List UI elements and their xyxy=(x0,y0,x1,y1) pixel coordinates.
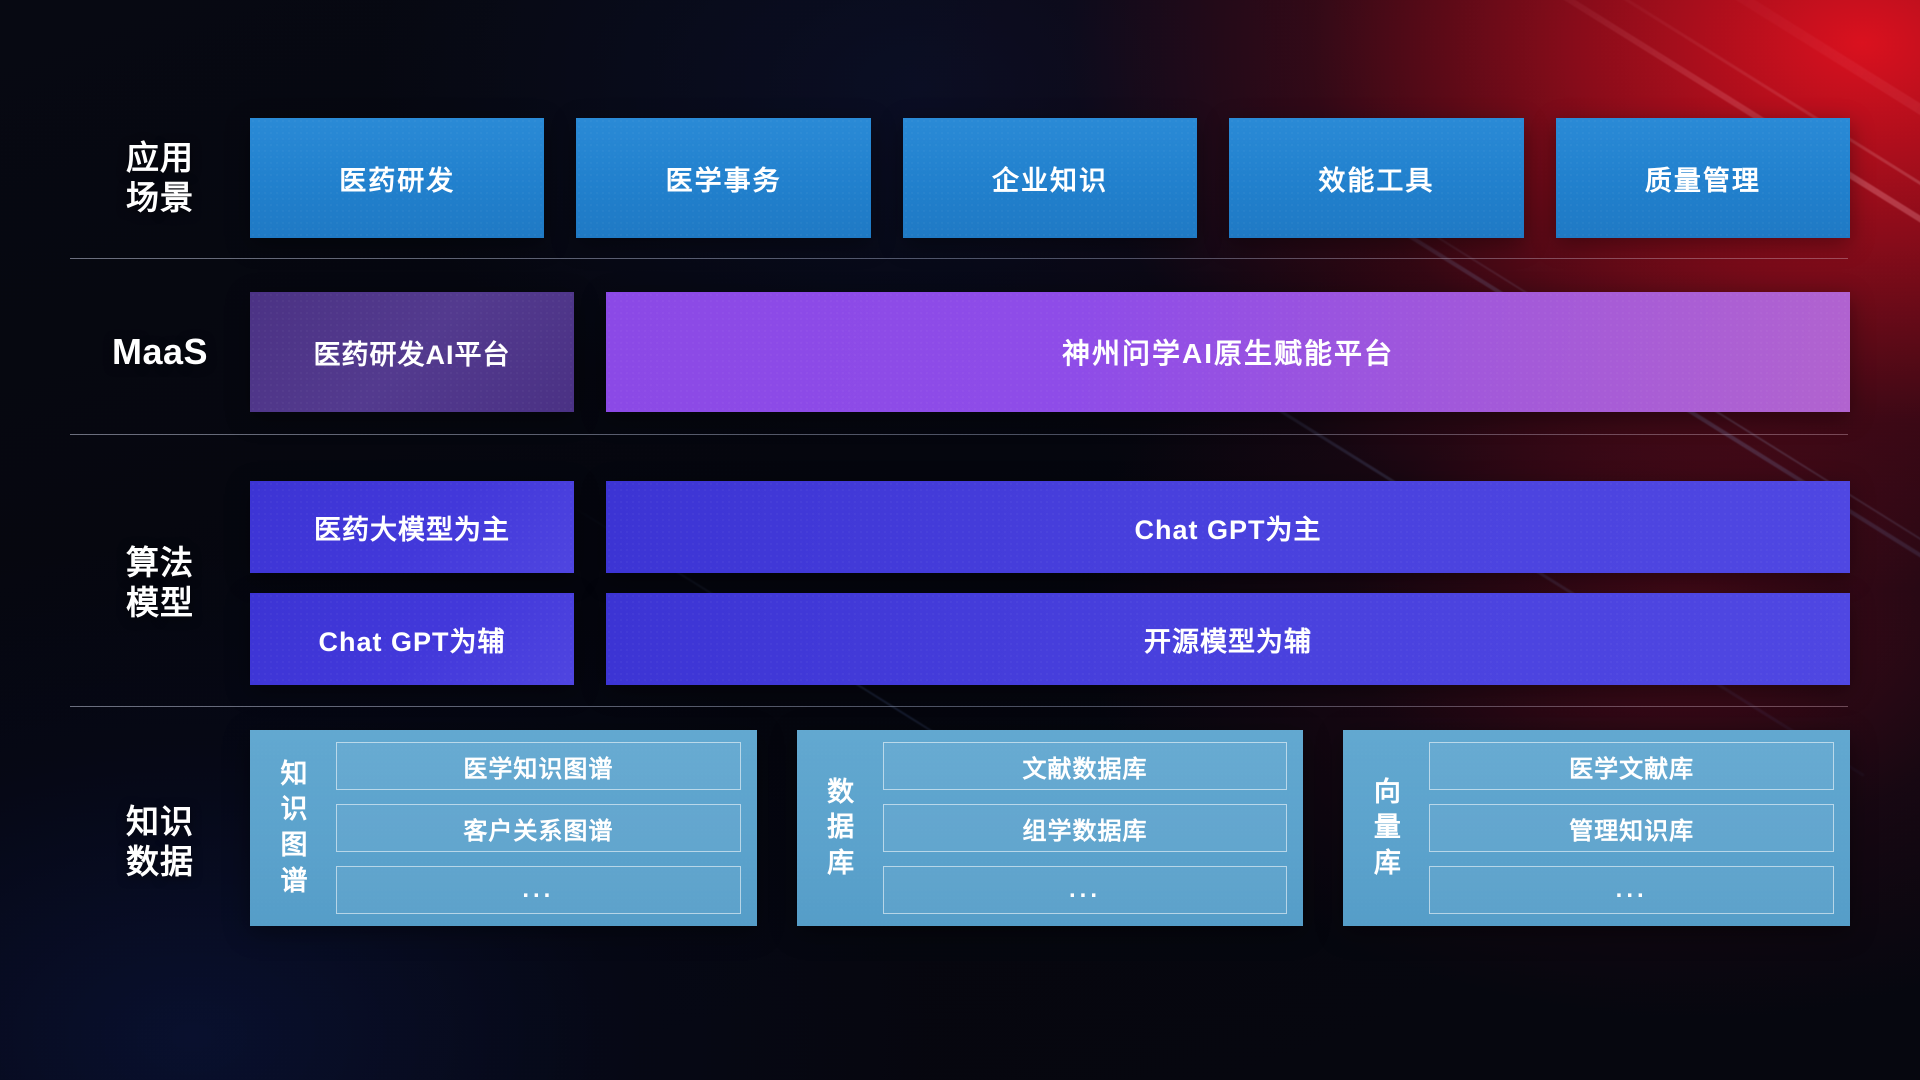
knowledge-item-more[interactable]: ... xyxy=(883,866,1288,914)
algo-card-pharma-llm-primary[interactable]: 医药大模型为主 xyxy=(250,481,574,573)
algo-card-chatgpt-primary[interactable]: Chat GPT为主 xyxy=(606,481,1850,573)
knowledge-item[interactable]: 医学知识图谱 xyxy=(336,742,741,790)
knowledge-group-list: 知识图谱 医学知识图谱 客户关系图谱 ... 数据库 文献数据库 xyxy=(250,730,1850,926)
knowledge-group-knowledge-graph[interactable]: 知识图谱 医学知识图谱 客户关系图谱 ... xyxy=(250,730,757,926)
app-card-quality-management[interactable]: 质量管理 xyxy=(1556,118,1850,238)
app-card-label: 医学事务 xyxy=(666,159,782,198)
knowledge-item[interactable]: 组学数据库 xyxy=(883,804,1288,852)
knowledge-group-title: 数据库 xyxy=(809,742,873,914)
row-algorithm-models: 算法 模型 医药大模型为主 Chat GPT为主 Chat GPT为辅 xyxy=(70,466,1850,700)
knowledge-group-vector-store[interactable]: 向量库 医学文献库 管理知识库 ... xyxy=(1343,730,1850,926)
row-label-application: 应用 场景 xyxy=(70,138,250,219)
app-card-label: 效能工具 xyxy=(1318,159,1434,198)
row-application-scenarios: 应用 场景 医药研发 医学事务 企业知识 效能工具 xyxy=(70,118,1850,238)
application-card-list: 医药研发 医学事务 企业知识 效能工具 质量管理 xyxy=(250,118,1850,238)
knowledge-item[interactable]: 医学文献库 xyxy=(1429,742,1834,790)
app-card-label: 企业知识 xyxy=(992,159,1108,198)
knowledge-group-title-text: 知识图谱 xyxy=(281,757,308,900)
knowledge-item[interactable]: 客户关系图谱 xyxy=(336,804,741,852)
algo-card-opensource-secondary[interactable]: 开源模型为辅 xyxy=(606,593,1850,685)
divider-application-maas xyxy=(70,258,1848,259)
knowledge-item-list: 医学知识图谱 客户关系图谱 ... xyxy=(326,742,741,914)
knowledge-group-title: 知识图谱 xyxy=(262,742,326,914)
algo-card-chatgpt-secondary[interactable]: Chat GPT为辅 xyxy=(250,593,574,685)
maas-card-list: 医药研发AI平台 神州问学AI原生赋能平台 xyxy=(250,292,1850,412)
app-card-medical-affairs[interactable]: 医学事务 xyxy=(576,118,870,238)
maas-card-shenzhou-wenxue-platform[interactable]: 神州问学AI原生赋能平台 xyxy=(606,292,1850,412)
knowledge-group-title-text: 数据库 xyxy=(827,775,854,882)
divider-algorithm-knowledge xyxy=(70,706,1848,707)
knowledge-item-list: 文献数据库 组学数据库 ... xyxy=(873,742,1288,914)
knowledge-group-database[interactable]: 数据库 文献数据库 组学数据库 ... xyxy=(797,730,1304,926)
algo-card-label: 医药大模型为主 xyxy=(314,508,510,547)
maas-card-pharma-ai-platform[interactable]: 医药研发AI平台 xyxy=(250,292,574,412)
row-maas: MaaS 医药研发AI平台 神州问学AI原生赋能平台 xyxy=(70,292,1850,412)
row-label-knowledge: 知识 数据 xyxy=(70,802,250,883)
knowledge-group-title-text: 向量库 xyxy=(1374,775,1401,882)
slide-canvas: 应用 场景 医药研发 医学事务 企业知识 效能工具 xyxy=(0,0,1920,1080)
knowledge-item[interactable]: 文献数据库 xyxy=(883,742,1288,790)
maas-card-label: 医药研发AI平台 xyxy=(314,333,511,372)
divider-maas-algorithm xyxy=(70,434,1848,435)
algorithm-line-primary: 医药大模型为主 Chat GPT为主 xyxy=(250,481,1850,573)
maas-card-label: 神州问学AI原生赋能平台 xyxy=(1062,332,1394,372)
algo-card-label: Chat GPT为辅 xyxy=(318,620,505,659)
algo-card-label: 开源模型为辅 xyxy=(1144,620,1312,659)
row-knowledge-data: 知识 数据 知识图谱 医学知识图谱 客户关系图谱 ... xyxy=(70,730,1850,980)
algorithm-line-secondary: Chat GPT为辅 开源模型为辅 xyxy=(250,593,1850,685)
architecture-stack: 应用 场景 医药研发 医学事务 企业知识 效能工具 xyxy=(0,0,1920,1080)
app-card-pharma-rd[interactable]: 医药研发 xyxy=(250,118,544,238)
algorithm-card-list: 医药大模型为主 Chat GPT为主 Chat GPT为辅 开源模型为辅 xyxy=(250,481,1850,685)
app-card-label: 医药研发 xyxy=(339,159,455,198)
row-label-maas: MaaS xyxy=(70,330,250,374)
algo-card-label: Chat GPT为主 xyxy=(1134,508,1321,547)
knowledge-item[interactable]: 管理知识库 xyxy=(1429,804,1834,852)
knowledge-item-more[interactable]: ... xyxy=(336,866,741,914)
row-label-algorithm: 算法 模型 xyxy=(70,543,250,624)
knowledge-group-title: 向量库 xyxy=(1355,742,1419,914)
app-card-efficiency-tools[interactable]: 效能工具 xyxy=(1229,118,1523,238)
knowledge-item-more[interactable]: ... xyxy=(1429,866,1834,914)
app-card-enterprise-knowledge[interactable]: 企业知识 xyxy=(903,118,1197,238)
knowledge-item-list: 医学文献库 管理知识库 ... xyxy=(1419,742,1834,914)
app-card-label: 质量管理 xyxy=(1645,159,1761,198)
